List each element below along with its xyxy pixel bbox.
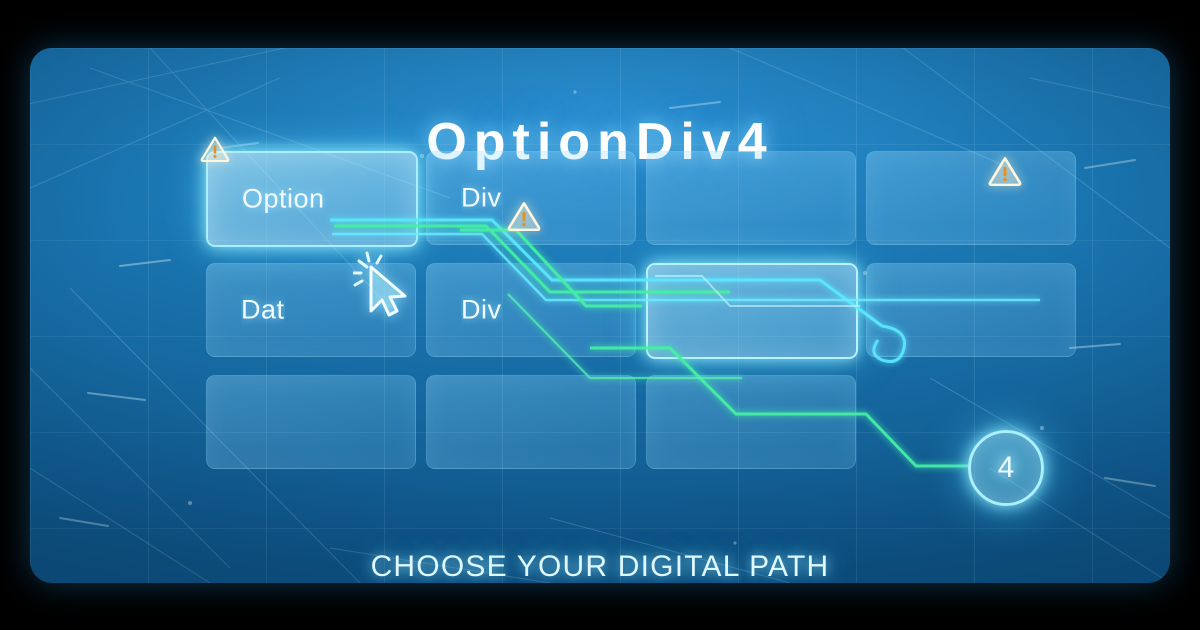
card-empty-r1c4[interactable] <box>866 151 1076 245</box>
card-highlight-r2c3[interactable] <box>646 263 858 359</box>
screenshot-root: OptionDiv4 Option Div Dat Div <box>0 0 1200 630</box>
card-label: Dat <box>241 295 285 326</box>
card-empty-r1c3[interactable] <box>646 151 856 245</box>
card-empty-r3c3[interactable] <box>646 375 856 469</box>
card-option[interactable]: Option <box>206 151 418 247</box>
status-badge[interactable]: 4 <box>968 430 1044 506</box>
badge-value: 4 <box>998 451 1015 485</box>
card-label: Div <box>461 295 502 326</box>
card-label: Div <box>461 183 502 214</box>
option-card-grid: Option Div Dat Div <box>176 143 1056 473</box>
card-data[interactable]: Dat <box>206 263 416 357</box>
card-div-2[interactable]: Div <box>426 263 636 357</box>
warning-triangle-icon <box>988 155 1022 186</box>
warning-triangle-icon <box>507 200 541 231</box>
caption-text: CHOOSE YOUR DIGITAL PATH <box>30 550 1170 583</box>
card-empty-r2c4[interactable] <box>866 263 1076 357</box>
card-empty-r3c2[interactable] <box>426 375 636 469</box>
warning-triangle-icon <box>200 135 230 162</box>
card-label: Option <box>242 184 325 215</box>
card-empty-r3c1[interactable] <box>206 375 416 469</box>
main-panel: OptionDiv4 Option Div Dat Div <box>30 48 1170 583</box>
